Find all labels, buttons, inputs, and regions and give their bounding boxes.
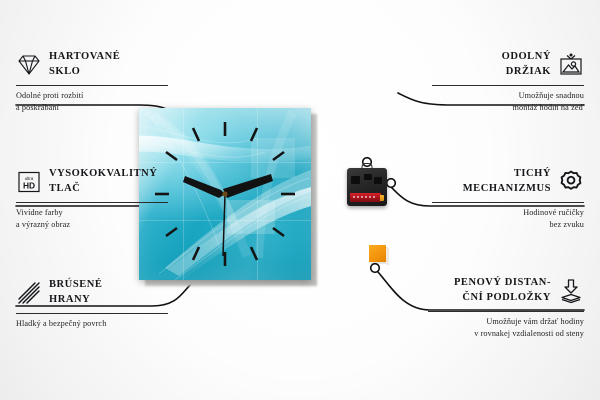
connector-dot-foam-spacers	[371, 264, 380, 273]
connector-dot-quiet-mechanism	[387, 179, 396, 188]
feature-title: ODOLNÝ DRŽIAK	[502, 50, 551, 80]
feature-high-quality-print: ultra HD VYSOKOKVALITNÝ TLAČ Vivídne far…	[16, 167, 168, 231]
feature-description: Hladký a bezpečný povrch	[16, 318, 168, 330]
feature-head: ODOLNÝ DRŽIAK	[432, 50, 584, 80]
feature-head: HARTOVANÉ SKLO	[16, 50, 168, 80]
feature-polished-edges: BRÚSENÉ HRANY Hladký a bezpečný povrch	[16, 278, 168, 330]
svg-text:HD: HD	[23, 180, 35, 190]
feature-divider	[16, 313, 168, 314]
feature-title: PENOVÝ DISTAN- ČNÍ PODLOŽKY	[454, 276, 551, 306]
feature-divider	[16, 202, 168, 203]
polished-edges-icon	[16, 280, 42, 306]
foam-spacer-pad	[369, 245, 386, 262]
foam-pad-arrow-icon	[558, 278, 584, 304]
feature-title: BRÚSENÉ HRANY	[49, 278, 102, 308]
feature-divider	[16, 85, 168, 86]
minute-hand	[223, 174, 273, 198]
battery	[350, 193, 381, 202]
feature-tempered-glass: HARTOVANÉ SKLO Odolné proti rozbití a po…	[16, 50, 168, 114]
feature-divider	[432, 85, 584, 86]
hands-hub	[222, 191, 227, 196]
picture-hanger-icon	[558, 52, 584, 78]
feature-durable-holder: ODOLNÝ DRŽIAK Umožňuje snadnou montáž ho…	[432, 50, 584, 114]
feature-divider	[432, 202, 584, 203]
feature-description: Odolné proti rozbití a poškrábání	[16, 90, 168, 115]
feature-title: VYSOKOKVALITNÝ TLAČ	[49, 167, 157, 197]
second-hand	[223, 194, 225, 256]
feature-head: BRÚSENÉ HRANY	[16, 278, 168, 308]
ultra-hd-icon: ultra HD	[16, 169, 42, 195]
feature-title: HARTOVANÉ SKLO	[49, 50, 120, 80]
feature-head: PENOVÝ DISTAN- ČNÍ PODLOŽKY	[428, 276, 584, 306]
gear-icon	[558, 169, 584, 195]
clock-hands	[183, 174, 273, 256]
feature-description: Hodinové ručičky bez zvuku	[432, 207, 584, 232]
diamond-icon	[16, 52, 42, 78]
feature-title: TICHÝ MECHANIZMUS	[463, 167, 551, 197]
feature-head: TICHÝ MECHANIZMUS	[432, 167, 584, 197]
clock-mechanism	[347, 168, 387, 206]
feature-divider	[428, 311, 584, 312]
feature-description: Umožňuje snadnou montáž hodin na zeď	[432, 90, 584, 115]
feature-foam-spacers: PENOVÝ DISTAN- ČNÍ PODLOŽKY Umožňuje vám…	[428, 276, 584, 340]
feature-quiet-mechanism: TICHÝ MECHANIZMUS Hodinové ručičky bez z…	[432, 167, 584, 231]
hour-hand	[183, 176, 225, 198]
mechanism-hanger	[362, 163, 373, 170]
infographic-stage: HARTOVANÉ SKLO Odolné proti rozbití a po…	[0, 0, 600, 400]
feature-description: Umožňuje vám držať hodiny v rovnakej vzd…	[428, 316, 584, 341]
feature-description: Vivídne farby a výrazný obraz	[16, 207, 168, 232]
feature-head: ultra HD VYSOKOKVALITNÝ TLAČ	[16, 167, 168, 197]
